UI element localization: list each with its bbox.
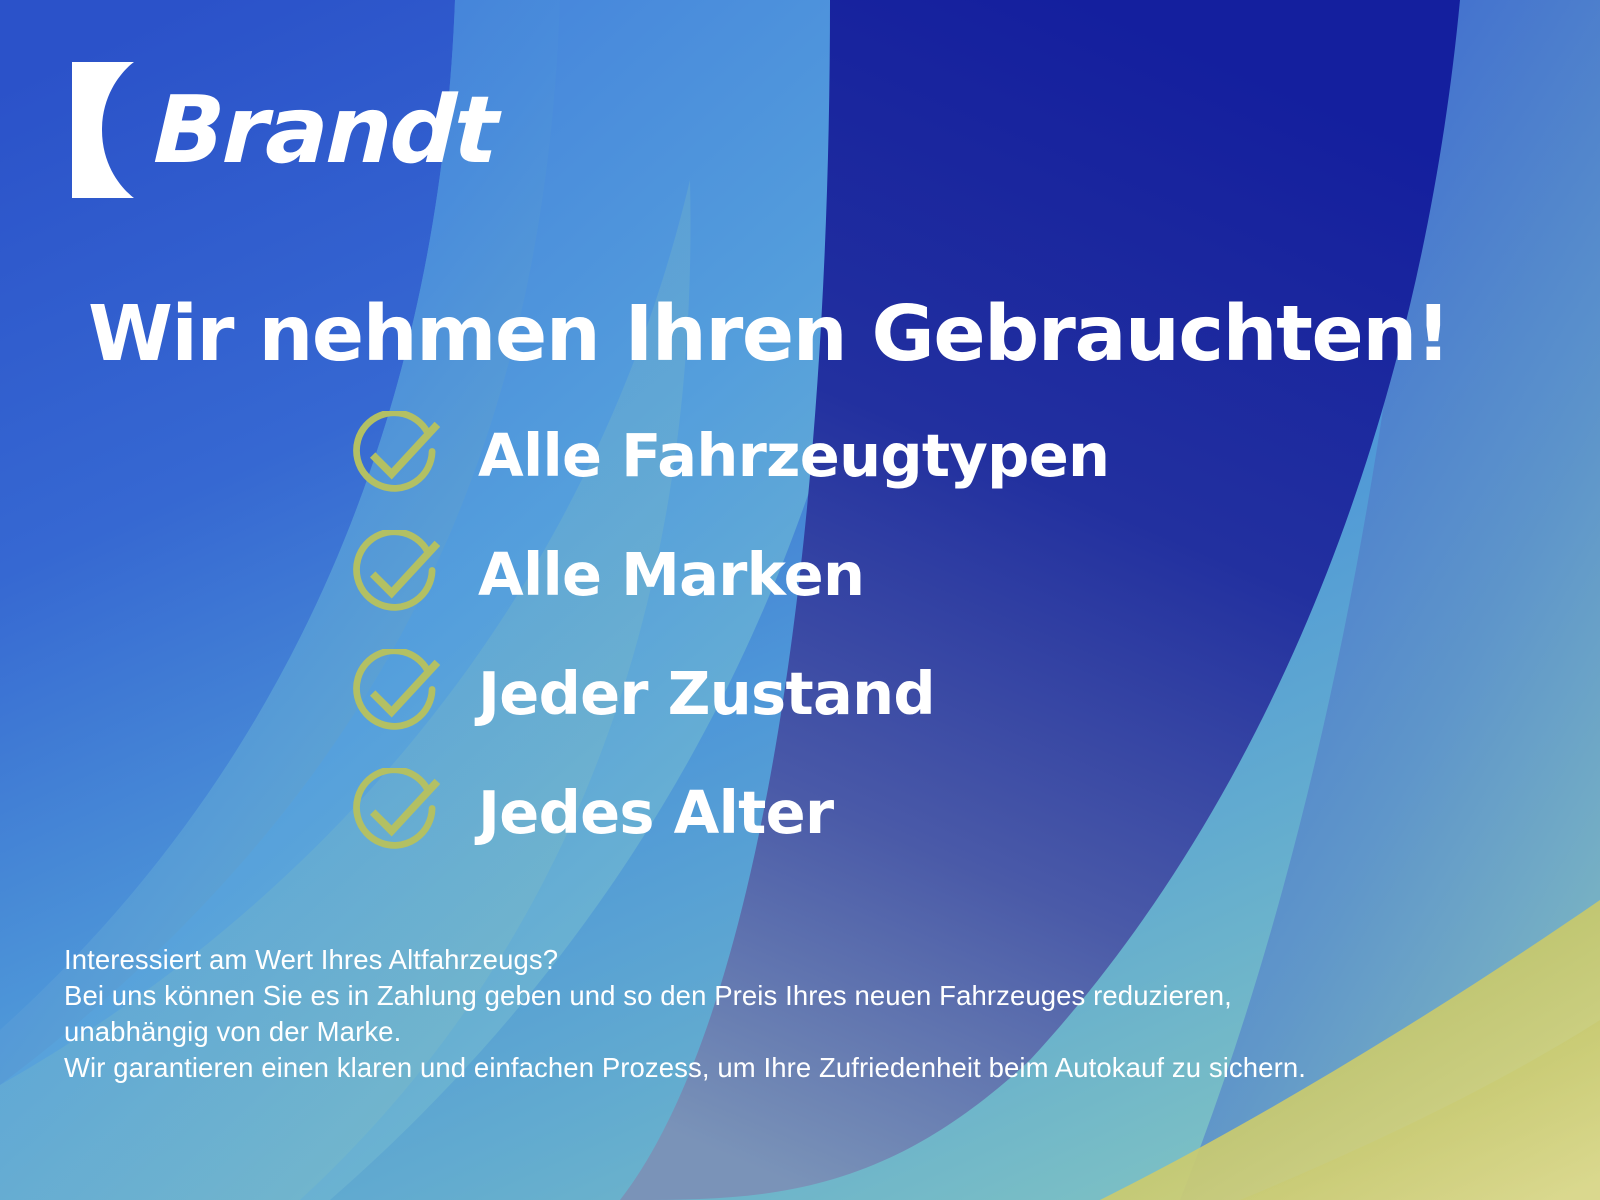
footer-paragraph: Interessiert am Wert Ihres Altfahrzeugs?… — [64, 942, 1464, 1086]
benefit-item: Alle Marken — [352, 515, 1109, 634]
promo-banner: Brandt Wir nehmen Ihren Gebrauchten! All… — [0, 0, 1600, 1200]
benefit-item: Jedes Alter — [352, 753, 1109, 872]
benefits-list: Alle Fahrzeugtypen Alle Marken Jeder Zus… — [352, 396, 1109, 872]
check-circle-icon — [352, 530, 442, 620]
benefit-label: Alle Marken — [478, 545, 864, 604]
brand-name: Brandt — [152, 84, 497, 177]
check-circle-icon — [352, 768, 442, 858]
footer-line-3: unabhängig von der Marke. — [64, 1014, 1464, 1050]
footer-line-1: Interessiert am Wert Ihres Altfahrzeugs? — [64, 942, 1464, 978]
check-circle-icon — [352, 411, 442, 501]
footer-line-4: Wir garantieren einen klaren und einfach… — [64, 1050, 1464, 1086]
check-circle-icon — [352, 649, 442, 739]
benefit-label: Alle Fahrzeugtypen — [478, 426, 1109, 485]
footer-line-2: Bei uns können Sie es in Zahlung geben u… — [64, 978, 1464, 1014]
benefit-label: Jeder Zustand — [478, 664, 935, 723]
headline: Wir nehmen Ihren Gebrauchten! — [88, 295, 1449, 376]
benefit-item: Jeder Zustand — [352, 634, 1109, 753]
banner-content: Brandt Wir nehmen Ihren Gebrauchten! All… — [0, 0, 1600, 1200]
benefit-item: Alle Fahrzeugtypen — [352, 396, 1109, 515]
bracket-mark-icon — [72, 62, 146, 198]
benefit-label: Jedes Alter — [478, 783, 833, 842]
brand-logo[interactable]: Brandt — [72, 56, 496, 204]
